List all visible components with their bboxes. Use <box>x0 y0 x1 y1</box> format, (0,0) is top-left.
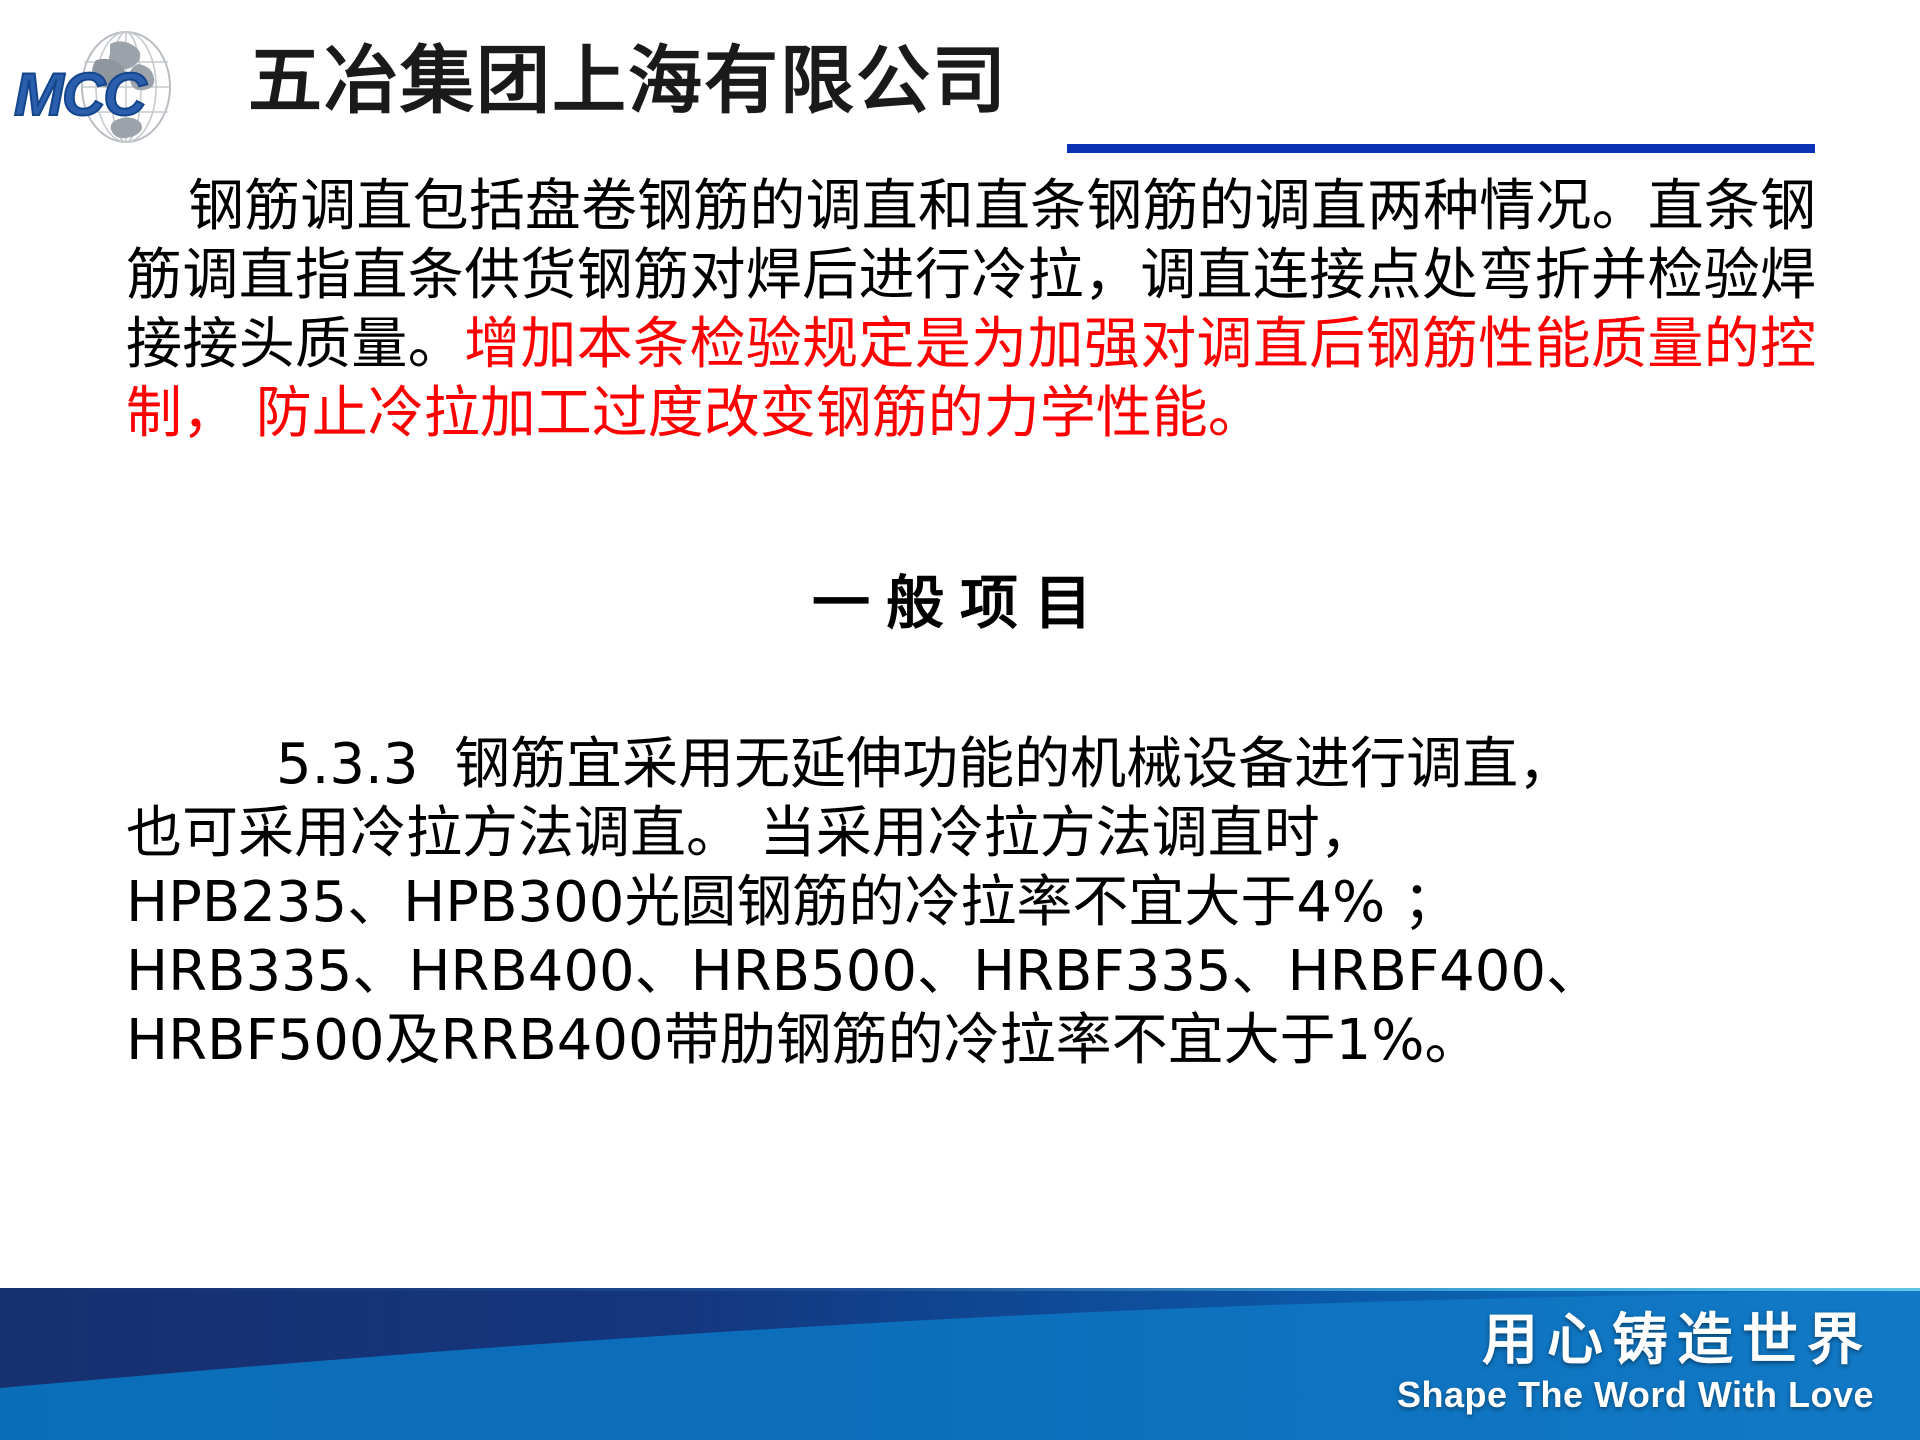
slide-footer-banner: 用心铸造世界 Shape The Word With Love <box>0 1288 1920 1440</box>
slide-header: MCC 五冶集团上海有限公司 <box>0 0 1920 170</box>
paragraph-two-line-1: 钢筋宜采用无延伸功能的机械设备进行调直， <box>454 732 1574 797</box>
paragraph-two-line-4: HRB335、HRB400、HRB500、HRBF335、HRBF400、 <box>126 939 1602 1004</box>
paragraph-two-line-5: HRBF500及RRB400带肋钢筋的冷拉率不宜大于1%。 <box>126 1008 1481 1073</box>
footer-top-highlight-line <box>0 1288 1920 1291</box>
header-rule-divider <box>1067 144 1815 153</box>
footer-slogan: 用心铸造世界 Shape The Word With Love <box>1397 1310 1874 1416</box>
paragraph-one: 钢筋调直包括盘卷钢筋的调直和直条钢筋的调直两种情况。直条钢筋调直指直条供货钢筋对… <box>126 172 1816 448</box>
paragraph-two: 5.3.3 钢筋宜采用无延伸功能的机械设备进行调直，也可采用冷拉方法调直。 当采… <box>126 730 1826 1075</box>
mcc-wordmark: MCC <box>14 68 214 122</box>
paragraph-two-line-3: HPB235、HPB300光圆钢筋的冷拉率不宜大于4% ； <box>126 870 1459 935</box>
company-logo: MCC <box>14 30 214 145</box>
slide-body: 钢筋调直包括盘卷钢筋的调直和直条钢筋的调直两种情况。直条钢筋调直指直条供货钢筋对… <box>0 170 1920 1280</box>
slogan-english: Shape The Word With Love <box>1397 1374 1874 1416</box>
section-heading: 一般项目 <box>0 568 1920 638</box>
company-name: 五冶集团上海有限公司 <box>248 38 1008 124</box>
clause-number: 5.3.3 <box>276 732 419 797</box>
paragraph-two-line-2: 也可采用冷拉方法调直。 当采用冷拉方法调直时， <box>126 801 1376 866</box>
slogan-chinese: 用心铸造世界 <box>1397 1310 1874 1372</box>
